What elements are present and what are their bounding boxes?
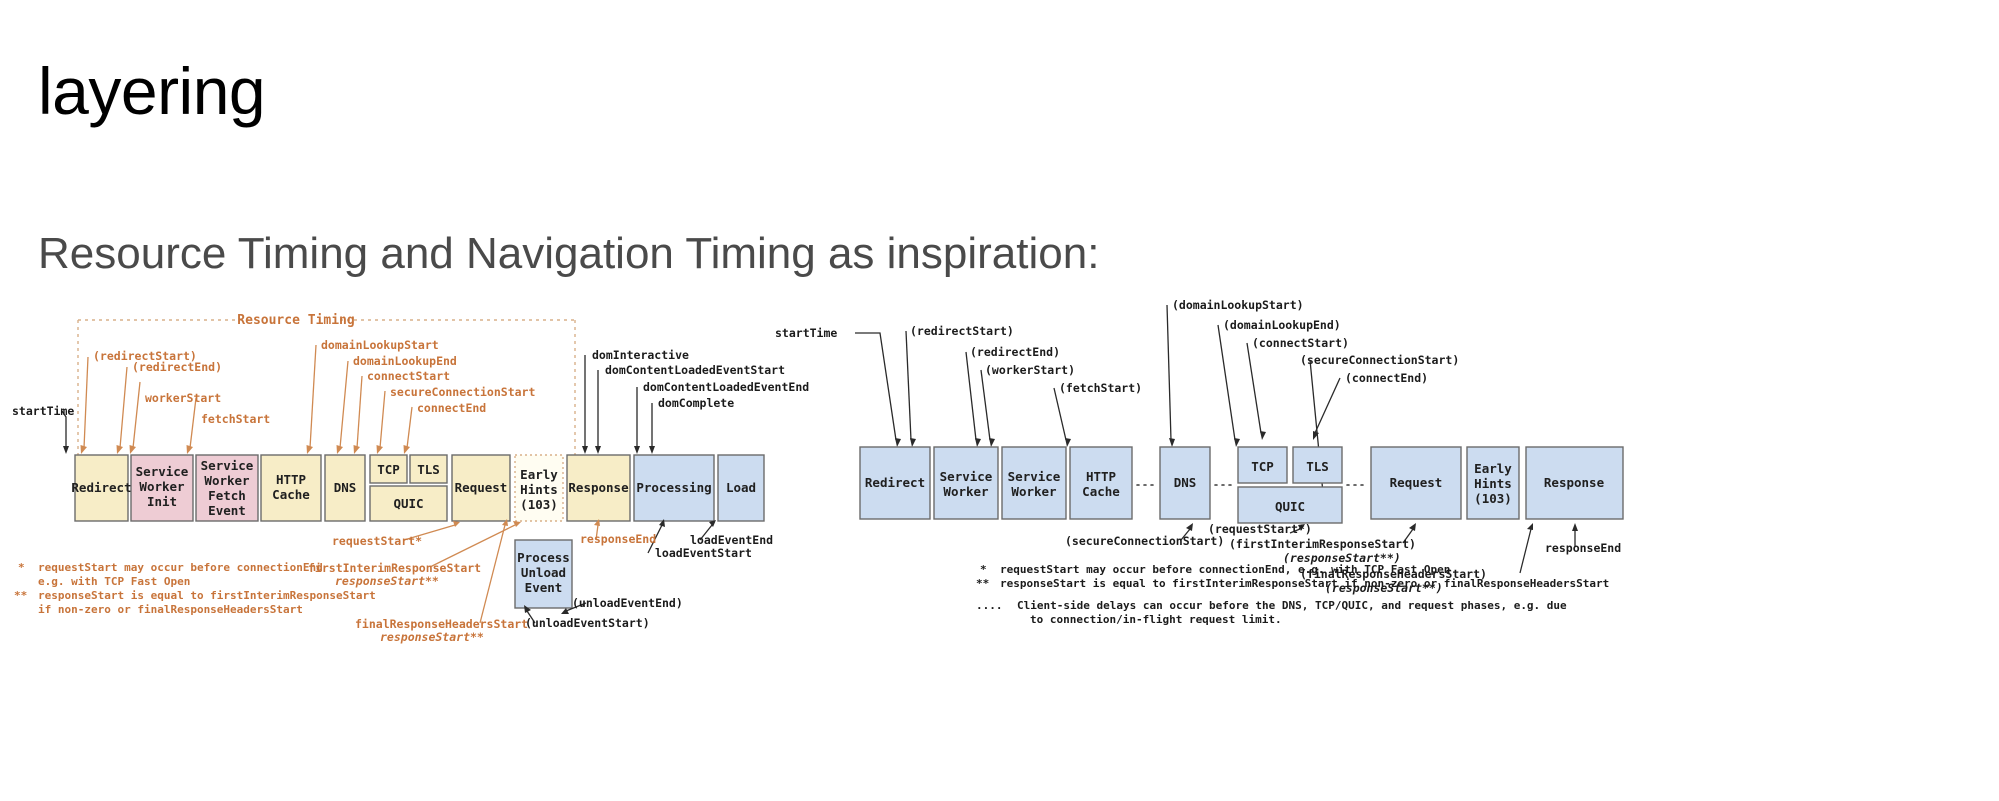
nav-box-label-request: Request [1390,475,1443,490]
label-domainLookupEnd: domainLookupEnd [353,354,457,368]
box-label-service-worker-init-2: Worker [139,479,185,494]
label-unloadEventStart: (unloadEventStart) [525,616,650,630]
label-domContentLoadedEventStart: domContentLoadedEventStart [605,363,785,377]
nav-footnote-1-marker: * [980,563,987,576]
box-label-early-hints-3: (103) [520,497,558,512]
box-label-dns: DNS [334,480,357,495]
nav-footnote-1-line-1: requestStart may occur before connection… [1000,563,1450,576]
label-responseStart-1: responseStart** [335,574,439,588]
nav-label-secureConnectionStart-b: (secureConnectionStart) [1065,534,1224,548]
nav-label-domainLookupStart: (domainLookupStart) [1172,298,1304,312]
nav-label-connectStart: (connectStart) [1252,336,1349,350]
box-label-swfe-1: Service [201,458,254,473]
label-startTime: startTime [12,404,74,418]
nav-label-workerStart: (workerStart) [985,363,1075,377]
nav-box-label-sw1-1: Service [940,469,993,484]
box-label-redirect: Redirect [71,480,131,495]
footnote-2-marker: ** [14,589,27,602]
box-label-swfe-2: Worker [204,473,250,488]
nav-label-responseEnd: responseEnd [1545,541,1621,555]
diagram-navigation-timing: startTime (redirectStart) (redirectEnd) … [975,385,1999,795]
nav-label-startTime: startTime [775,326,837,340]
nav-timeline-boxes: Redirect Service Worker Service Worker H… [860,447,1623,523]
nav-box-label-sw2-2: Worker [1011,484,1057,499]
label-fetchStart: fetchStart [201,412,270,426]
nav-box-label-response: Response [1544,475,1605,490]
nav-label-redirectEnd: (redirectEnd) [970,345,1060,359]
nav-box-label-eh-2: Hints [1474,476,1512,491]
nav-footnote-2-marker: ** [976,577,989,590]
box-label-http-cache-1: HTTP [276,472,306,487]
box-label-pue-2: Unload [521,565,566,580]
nav-box-label-sw1-2: Worker [943,484,989,499]
nav-footnote-3-line-1: Client-side delays can occur before the … [1017,599,1567,612]
box-label-request: Request [455,480,508,495]
box-label-early-hints-1: Early [520,467,558,482]
footnote-2-line-2: if non-zero or finalResponseHeadersStart [38,603,303,616]
label-domComplete: domComplete [658,396,734,410]
nav-box-label-tcp: TCP [1251,459,1274,474]
label-secureConnectionStart: secureConnectionStart [390,385,535,399]
nav-label-requestStart: (requestStart*) [1208,522,1312,536]
box-label-response: Response [568,480,629,495]
label-domInteractive: domInteractive [592,348,689,362]
box-label-pue-1: Process [517,550,570,565]
label-workerStart: workerStart [145,391,221,405]
label-domContentLoadedEventEnd: domContentLoadedEventEnd [643,380,809,394]
nav-footnote-3-marker: .... [976,599,1003,612]
nav-label-fetchStart: (fetchStart) [1059,381,1142,395]
page-title: layering [38,58,265,124]
nav-footnote-2-line-1: responseStart is equal to firstInterimRe… [1000,577,1609,590]
nav-box-label-eh-3: (103) [1474,491,1512,506]
box-label-service-worker-init-3: Init [147,494,177,509]
footnote-1-marker: * [18,561,25,574]
box-label-tcp: TCP [377,462,400,477]
label-connectStart: connectStart [367,369,450,383]
box-label-early-hints-2: Hints [520,482,558,497]
label-redirectEnd: (redirectEnd) [132,360,222,374]
nav-box-label-dns: DNS [1174,475,1197,490]
box-label-service-worker-init-1: Service [136,464,189,479]
label-loadEventEnd: loadEventEnd [690,533,773,547]
nav-label-firstInterimResponseStart: (firstInterimResponseStart) [1229,537,1416,551]
nav-box-label-cache-1: HTTP [1086,469,1116,484]
footnotes-navigation-timing: * requestStart may occur before connecti… [976,563,1609,626]
label-responseStart-2: responseStart** [380,630,484,644]
box-label-quic: QUIC [393,496,423,511]
box-label-http-cache-2: Cache [272,487,310,502]
label-firstInterimResponseStart: firstInterimResponseStart [308,561,481,575]
box-label-swfe-3: Fetch [208,488,246,503]
box-label-processing: Processing [636,480,711,495]
box-label-tls: TLS [417,462,440,477]
label-unloadEventEnd: (unloadEventEnd) [572,596,683,610]
footnote-1-line-1: requestStart may occur before connection… [38,561,323,574]
nav-label-secureConnectionStart: (secureConnectionStart) [1300,353,1459,367]
footnotes-resource-timing: * requestStart may occur before connecti… [14,561,376,616]
nav-label-connectEnd: (connectEnd) [1345,371,1428,385]
page-subtitle: Resource Timing and Navigation Timing as… [38,232,1099,276]
nav-label-domainLookupEnd: (domainLookupEnd) [1223,318,1341,332]
nav-box-label-cache-2: Cache [1082,484,1120,499]
nav-box-label-tls: TLS [1306,459,1329,474]
box-label-load: Load [726,480,756,495]
group-label-resource-timing: Resource Timing [237,313,354,328]
nav-footnote-3-line-2: to connection/in-flight request limit. [1030,613,1282,626]
label-connectEnd: connectEnd [417,401,486,415]
nav-box-label-eh-1: Early [1474,461,1512,476]
footnote-2-line-1: responseStart is equal to firstInterimRe… [38,589,376,602]
label-responseEnd: responseEnd [580,532,656,546]
nav-box-label-quic: QUIC [1275,499,1305,514]
nav-box-label-redirect: Redirect [865,475,925,490]
nav-box-label-sw2-1: Service [1008,469,1061,484]
label-loadEventStart: loadEventStart [655,546,752,560]
box-label-swfe-4: Event [208,503,246,518]
footnote-1-line-2: e.g. with TCP Fast Open [38,575,190,588]
diagram-resource-timing: Resource Timing startTime (redirectStart… [0,385,990,795]
nav-label-redirectStart: (redirectStart) [910,324,1014,338]
label-domainLookupStart: domainLookupStart [321,338,439,352]
box-label-pue-3: Event [525,580,563,595]
label-requestStart: requestStart* [332,534,422,548]
label-finalResponseHeadersStart: finalResponseHeadersStart [355,617,528,631]
